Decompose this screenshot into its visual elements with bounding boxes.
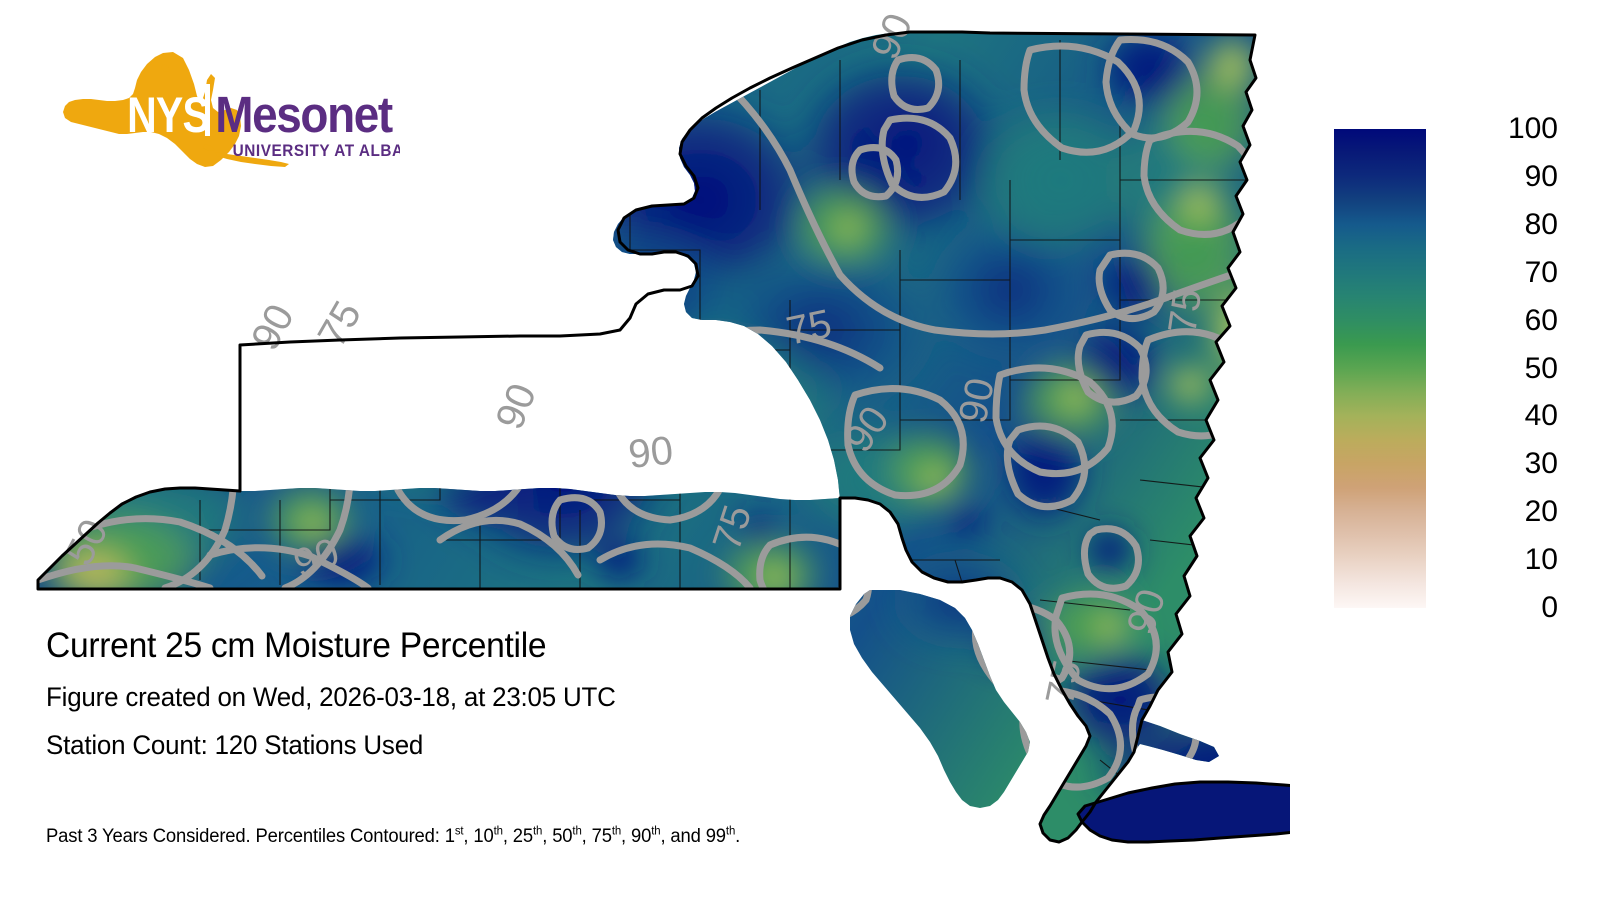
colorbar-tick-20: 20 — [1430, 497, 1558, 527]
footnote-ordinal-suffix: th — [572, 825, 581, 838]
colorbar-tick-70: 70 — [1430, 258, 1558, 288]
contour-label: 90 — [243, 297, 303, 357]
colorbar-tick-0: 0 — [1430, 593, 1558, 623]
footnote-percentile: 50 — [552, 826, 572, 847]
contour-label: 75 — [310, 294, 370, 355]
colorbar-tick-labels: 1009080706050403020100 — [1430, 110, 1566, 620]
colorbar-tick-30: 30 — [1430, 449, 1558, 479]
footnote-percentile: 99 — [706, 826, 726, 847]
footnote-ordinal-suffix: th — [726, 825, 735, 838]
footnote-percentile: 10 — [473, 826, 493, 847]
colorbar-tick-80: 80 — [1430, 210, 1558, 240]
colorbar: 1009080706050403020100 — [1330, 110, 1580, 620]
figure-footnote: Past 3 Years Considered. Percentiles Con… — [46, 826, 740, 848]
station-count-label: Station Count: 120 Stations Used — [46, 729, 1006, 762]
colorbar-tick-10: 10 — [1430, 545, 1558, 575]
footnote-ordinal-suffix: th — [494, 825, 503, 838]
colorbar-gradient — [1334, 129, 1426, 608]
colorbar-tick-100: 100 — [1430, 114, 1558, 144]
footnote-ordinal-suffix: th — [612, 825, 621, 838]
footnote-percentile: 90 — [631, 826, 651, 847]
footnote-ordinal-suffix: st — [455, 825, 464, 838]
figure-created-timestamp: Figure created on Wed, 2026-03-18, at 23… — [46, 681, 1006, 714]
contour-label: 75 — [1160, 286, 1210, 336]
contour-label: 90 — [488, 378, 545, 436]
footnote-ordinal-suffix: th — [651, 825, 660, 838]
colorbar-tick-60: 60 — [1430, 306, 1558, 336]
page-title: Current 25 cm Moisture Percentile — [46, 625, 1006, 667]
colorbar-tick-50: 50 — [1430, 354, 1558, 384]
contour-label: 90 — [951, 374, 1003, 427]
footnote-percentile: 25 — [513, 826, 533, 847]
figure-caption-block: Current 25 cm Moisture Percentile Figure… — [46, 625, 1046, 762]
contour-label: 75 — [783, 302, 836, 354]
footnote-percentile: 75 — [592, 826, 612, 847]
colorbar-tick-90: 90 — [1430, 162, 1558, 192]
contour-label: 90 — [626, 429, 675, 477]
footnote-percentile: 1 — [445, 826, 455, 847]
colorbar-tick-40: 40 — [1430, 401, 1558, 431]
footnote-ordinal-suffix: th — [533, 825, 542, 838]
